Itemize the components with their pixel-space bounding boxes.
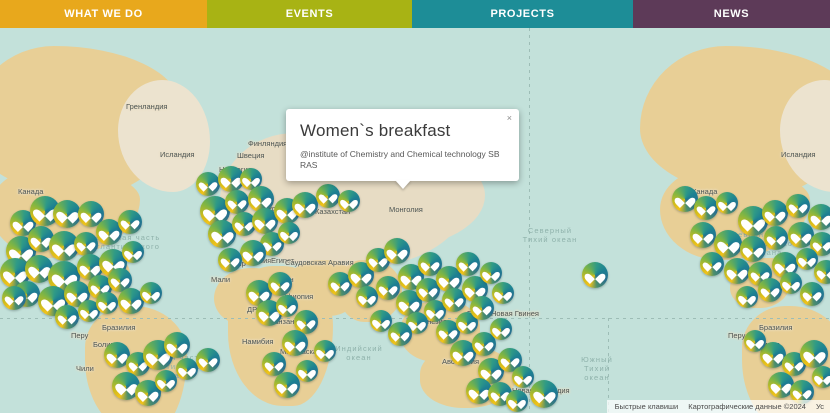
heart-icon [517,372,528,383]
heart-icon [741,292,752,303]
heart-icon [13,244,29,258]
heart-icon [84,208,98,220]
event-marker[interactable] [480,262,502,284]
event-marker[interactable] [800,340,828,368]
heart-icon [110,349,124,361]
heart-icon [150,348,166,362]
heart-icon [119,379,134,392]
heart-icon [202,178,214,190]
heart-icon [207,204,223,218]
event-marker[interactable] [740,236,766,262]
heart-icon [394,328,406,340]
event-marker[interactable] [786,194,810,218]
heart-icon [745,214,761,228]
heart-icon [721,237,736,250]
event-marker[interactable] [53,200,81,228]
heart-icon [202,354,214,366]
heart-icon [588,269,602,281]
heart-icon [56,239,72,253]
heart-icon [749,336,760,347]
heart-icon [37,204,53,218]
heart-icon [820,266,830,278]
heart-icon [127,247,138,258]
heart-icon [224,254,236,266]
event-marker[interactable] [716,192,738,214]
event-marker[interactable] [55,305,79,329]
heart-icon [298,199,312,211]
event-marker[interactable] [338,190,360,212]
map-data-copyright: Картографические данные ©2024 [688,402,806,411]
heart-icon [462,258,474,270]
heart-icon [778,259,792,271]
heart-icon [375,316,386,327]
heart-icon [497,288,508,299]
event-marker[interactable] [296,360,318,382]
event-marker[interactable] [155,370,177,392]
heart-icon [114,274,126,286]
heart-icon [319,346,330,357]
heart-icon [788,358,800,370]
event-marker[interactable] [276,295,298,317]
heart-icon [301,366,312,377]
heart-icon [792,200,804,212]
heart-icon [268,358,280,370]
close-icon[interactable]: × [507,113,512,123]
heart-icon [132,358,144,370]
event-marker[interactable] [196,172,220,196]
heart-icon [402,297,416,309]
event-marker[interactable] [780,272,802,294]
heart-icon [354,269,368,281]
event-marker[interactable] [176,358,198,380]
heart-icon [424,258,436,270]
heart-icon [766,349,780,361]
heart-icon [485,268,496,279]
heart-icon [764,284,776,296]
heart-icon [461,318,472,329]
heart-icon [343,196,354,207]
heart-icon [511,396,522,407]
heart-icon [476,302,488,314]
heart-icon [796,386,808,398]
popup-pointer [395,180,411,189]
heart-icon [390,245,404,257]
event-marker[interactable] [762,200,788,226]
heart-icon [472,385,486,397]
heart-icon [238,218,250,230]
nav-item-what-we-do[interactable]: WHAT WE DO [0,0,207,28]
heart-icon [817,372,828,383]
event-marker[interactable] [492,282,514,304]
popup-title: Women`s breakfast [300,121,505,141]
heart-icon [80,238,92,250]
heart-icon [442,273,456,285]
main-navigation: WHAT WE DO EVENTS PROJECTS NEWS [0,0,830,28]
heart-icon [7,266,23,280]
heart-icon [83,261,97,273]
event-marker[interactable] [700,252,724,276]
heart-icon [181,364,192,375]
heart-icon [816,238,828,250]
heart-icon [32,262,47,275]
event-marker[interactable] [800,282,824,306]
heart-icon [300,316,312,328]
event-marker[interactable] [812,366,830,388]
graticule-line [608,318,609,413]
heart-icon [170,339,184,351]
event-marker[interactable] [512,366,534,388]
event-marker[interactable] [240,240,266,266]
event-marker[interactable] [74,232,98,256]
event-marker[interactable] [582,262,608,288]
heart-icon [245,174,256,185]
heart-icon [45,294,61,308]
heart-icon [422,284,434,296]
event-marker[interactable] [2,286,26,310]
event-marker[interactable] [282,330,308,356]
event-marker[interactable] [118,210,142,234]
nav-item-news[interactable]: NEWS [633,0,830,28]
heart-icon [61,311,73,323]
heart-icon [262,307,276,319]
event-marker[interactable] [268,272,292,296]
heart-icon [34,233,48,245]
heart-icon [746,243,760,255]
event-info-popup[interactable]: × Women`s breakfast @institute of Chemis… [286,109,519,181]
event-marker[interactable] [274,372,300,398]
heart-icon [721,198,732,209]
heart-icon [411,318,422,329]
heart-icon [774,379,788,391]
event-marker[interactable] [388,322,412,346]
heart-icon [231,196,243,208]
event-marker[interactable] [758,278,782,302]
event-marker[interactable] [456,252,480,276]
heart-icon [730,265,744,277]
heart-icon [124,216,136,228]
heart-icon [83,306,94,317]
heart-icon [448,294,460,306]
heart-icon [254,193,268,205]
heart-icon [794,229,808,241]
event-marker[interactable] [530,380,558,408]
event-marker[interactable] [196,348,220,372]
event-marker[interactable] [316,184,340,208]
heart-icon [814,211,828,223]
event-marker[interactable] [164,332,190,358]
heart-icon [280,379,294,391]
event-marker[interactable] [744,330,766,352]
event-marker[interactable] [470,296,494,320]
heart-icon [494,388,506,400]
nav-item-events[interactable]: EVENTS [207,0,412,28]
heart-icon [334,278,346,290]
heart-icon [537,387,552,400]
heart-icon [504,354,516,366]
event-marker[interactable] [140,282,162,304]
heart-icon [8,292,20,304]
keyboard-shortcuts-link[interactable]: Быстрые клавиши [615,402,679,411]
event-marker[interactable] [225,190,249,214]
heart-icon [16,217,30,229]
heart-icon [484,365,498,377]
heart-icon [215,227,230,240]
terms-link[interactable]: Ус [816,402,824,411]
heart-icon [94,281,106,293]
heart-icon [102,226,116,238]
heart-icon [252,287,266,299]
heart-icon [141,387,155,399]
event-marker[interactable] [96,292,118,314]
heart-icon [678,193,692,205]
event-marker[interactable] [292,192,318,218]
heart-icon [70,288,84,300]
event-marker[interactable] [694,196,718,220]
heart-icon [768,207,782,219]
heart-icon [283,228,294,239]
world-map[interactable]: ГренландияИсландияКанадаНорвегияШвецияФи… [0,28,830,413]
heart-icon [696,229,710,241]
heart-icon [246,247,260,259]
heart-icon [404,271,418,283]
heart-icon [361,292,372,303]
heart-icon [372,254,384,266]
heart-icon [495,324,506,335]
graticule-line [529,28,530,413]
heart-icon [60,207,75,220]
heart-icon [442,326,454,338]
heart-icon [382,282,394,294]
event-marker[interactable] [278,222,300,244]
event-marker[interactable] [370,310,392,332]
event-marker[interactable] [506,390,528,412]
event-marker[interactable] [314,340,336,362]
heart-icon [456,347,470,359]
event-marker[interactable] [218,248,242,272]
heart-icon [224,173,238,185]
event-marker[interactable] [690,222,716,248]
heart-icon [281,301,292,312]
heart-icon [806,288,818,300]
event-marker[interactable] [764,226,788,250]
heart-icon [770,232,782,244]
heart-icon [266,238,278,250]
heart-icon [785,278,796,289]
heart-icon [429,306,440,317]
heart-icon [807,347,822,360]
heart-icon [124,295,138,307]
heart-icon [288,337,302,349]
event-marker[interactable] [490,318,512,340]
popup-subtitle: @institute of Chemistry and Chemical tec… [300,149,505,171]
heart-icon [700,202,712,214]
heart-icon [160,376,171,387]
event-marker[interactable] [736,286,758,308]
event-marker[interactable] [384,238,410,264]
heart-icon [258,215,272,227]
heart-icon [801,254,812,265]
event-marker[interactable] [724,258,750,284]
heart-icon [145,288,156,299]
heart-icon [274,278,286,290]
heart-icon [468,283,482,295]
heart-icon [322,190,334,202]
event-marker[interactable] [122,241,144,263]
event-marker[interactable] [356,286,378,308]
nav-item-projects[interactable]: PROJECTS [412,0,633,28]
heart-icon [101,298,112,309]
map-attribution: Быстрые клавиши Картографические данные … [607,400,830,413]
heart-icon [706,258,718,270]
heart-icon [478,338,490,350]
map-page: WHAT WE DO EVENTS PROJECTS NEWS Гренланд… [0,0,830,413]
